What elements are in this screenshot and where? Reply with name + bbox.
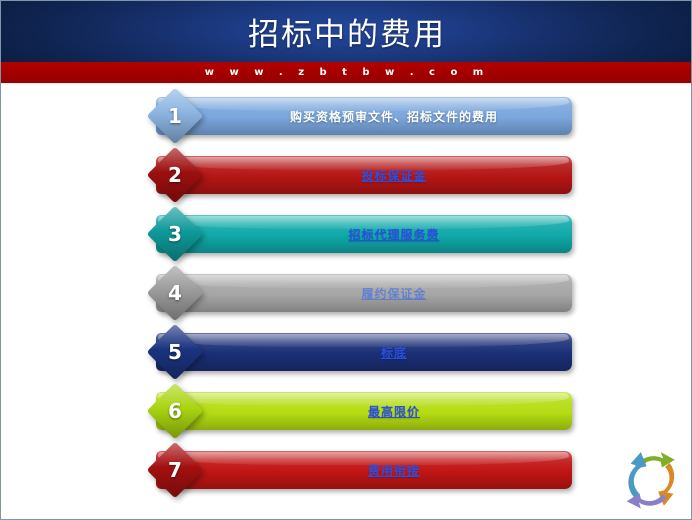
arrow-row-number-diamond: 5 [147, 324, 203, 380]
arrow-row-number: 1 [147, 88, 203, 144]
arrow-row-number-diamond: 3 [147, 206, 203, 262]
page-title: 招标中的费用 [1, 1, 692, 62]
slide-canvas: 招标中的费用 w w w . z b t b w . c o m 购买资格预审文… [0, 0, 692, 520]
arrow-row[interactable]: 招标代理服务费3 [1, 211, 692, 257]
header-divider [1, 83, 692, 85]
website-url-text: w w w . z b t b w . c o m [1, 62, 692, 83]
arrow-row[interactable]: 标底5 [1, 329, 692, 375]
arrow-row-number-diamond: 7 [147, 442, 203, 498]
arrow-row-bar[interactable]: 投标保证金 [156, 156, 572, 194]
arrow-row-number: 2 [147, 147, 203, 203]
arrow-row-number: 7 [147, 442, 203, 498]
arrow-row-label[interactable]: 履约保证金 [361, 285, 426, 302]
arrow-row[interactable]: 投标保证金2 [1, 152, 692, 198]
arrow-row-number: 4 [147, 265, 203, 321]
arrow-row[interactable]: 最高限价6 [1, 388, 692, 434]
arrow-row-label[interactable]: 费用衔接 [368, 462, 420, 479]
arrow-row-number-diamond: 1 [147, 88, 203, 144]
arrow-row-bar[interactable]: 购买资格预审文件、招标文件的费用 [156, 97, 572, 135]
arrow-row-number: 5 [147, 324, 203, 380]
arrow-row[interactable]: 费用衔接7 [1, 447, 692, 493]
arrow-row-label: 购买资格预审文件、招标文件的费用 [290, 108, 498, 125]
arrow-row-bar[interactable]: 最高限价 [156, 392, 572, 430]
arrow-row-bar[interactable]: 费用衔接 [156, 451, 572, 489]
arrow-row-number: 6 [147, 383, 203, 439]
cycle-arrows-logo [621, 447, 685, 511]
arrow-row-number-diamond: 6 [147, 383, 203, 439]
arrow-row-number-diamond: 4 [147, 265, 203, 321]
arrow-row-bar[interactable]: 标底 [156, 333, 572, 371]
arrow-row-label[interactable]: 标底 [381, 344, 407, 361]
arrow-row-label[interactable]: 招标代理服务费 [348, 226, 439, 243]
arrow-row[interactable]: 购买资格预审文件、招标文件的费用1 [1, 93, 692, 139]
arrow-row-bar[interactable]: 履约保证金 [156, 274, 572, 312]
arrow-row-label[interactable]: 最高限价 [368, 403, 420, 420]
arrow-row-number-diamond: 2 [147, 147, 203, 203]
arrow-row-label[interactable]: 投标保证金 [361, 167, 426, 184]
logo-center-hole [642, 468, 664, 490]
arrow-row-number: 3 [147, 206, 203, 262]
arrow-row[interactable]: 履约保证金4 [1, 270, 692, 316]
arrow-row-bar[interactable]: 招标代理服务费 [156, 215, 572, 253]
arrow-rows-list: 购买资格预审文件、招标文件的费用1投标保证金2招标代理服务费3履约保证金4标底5… [1, 93, 692, 513]
